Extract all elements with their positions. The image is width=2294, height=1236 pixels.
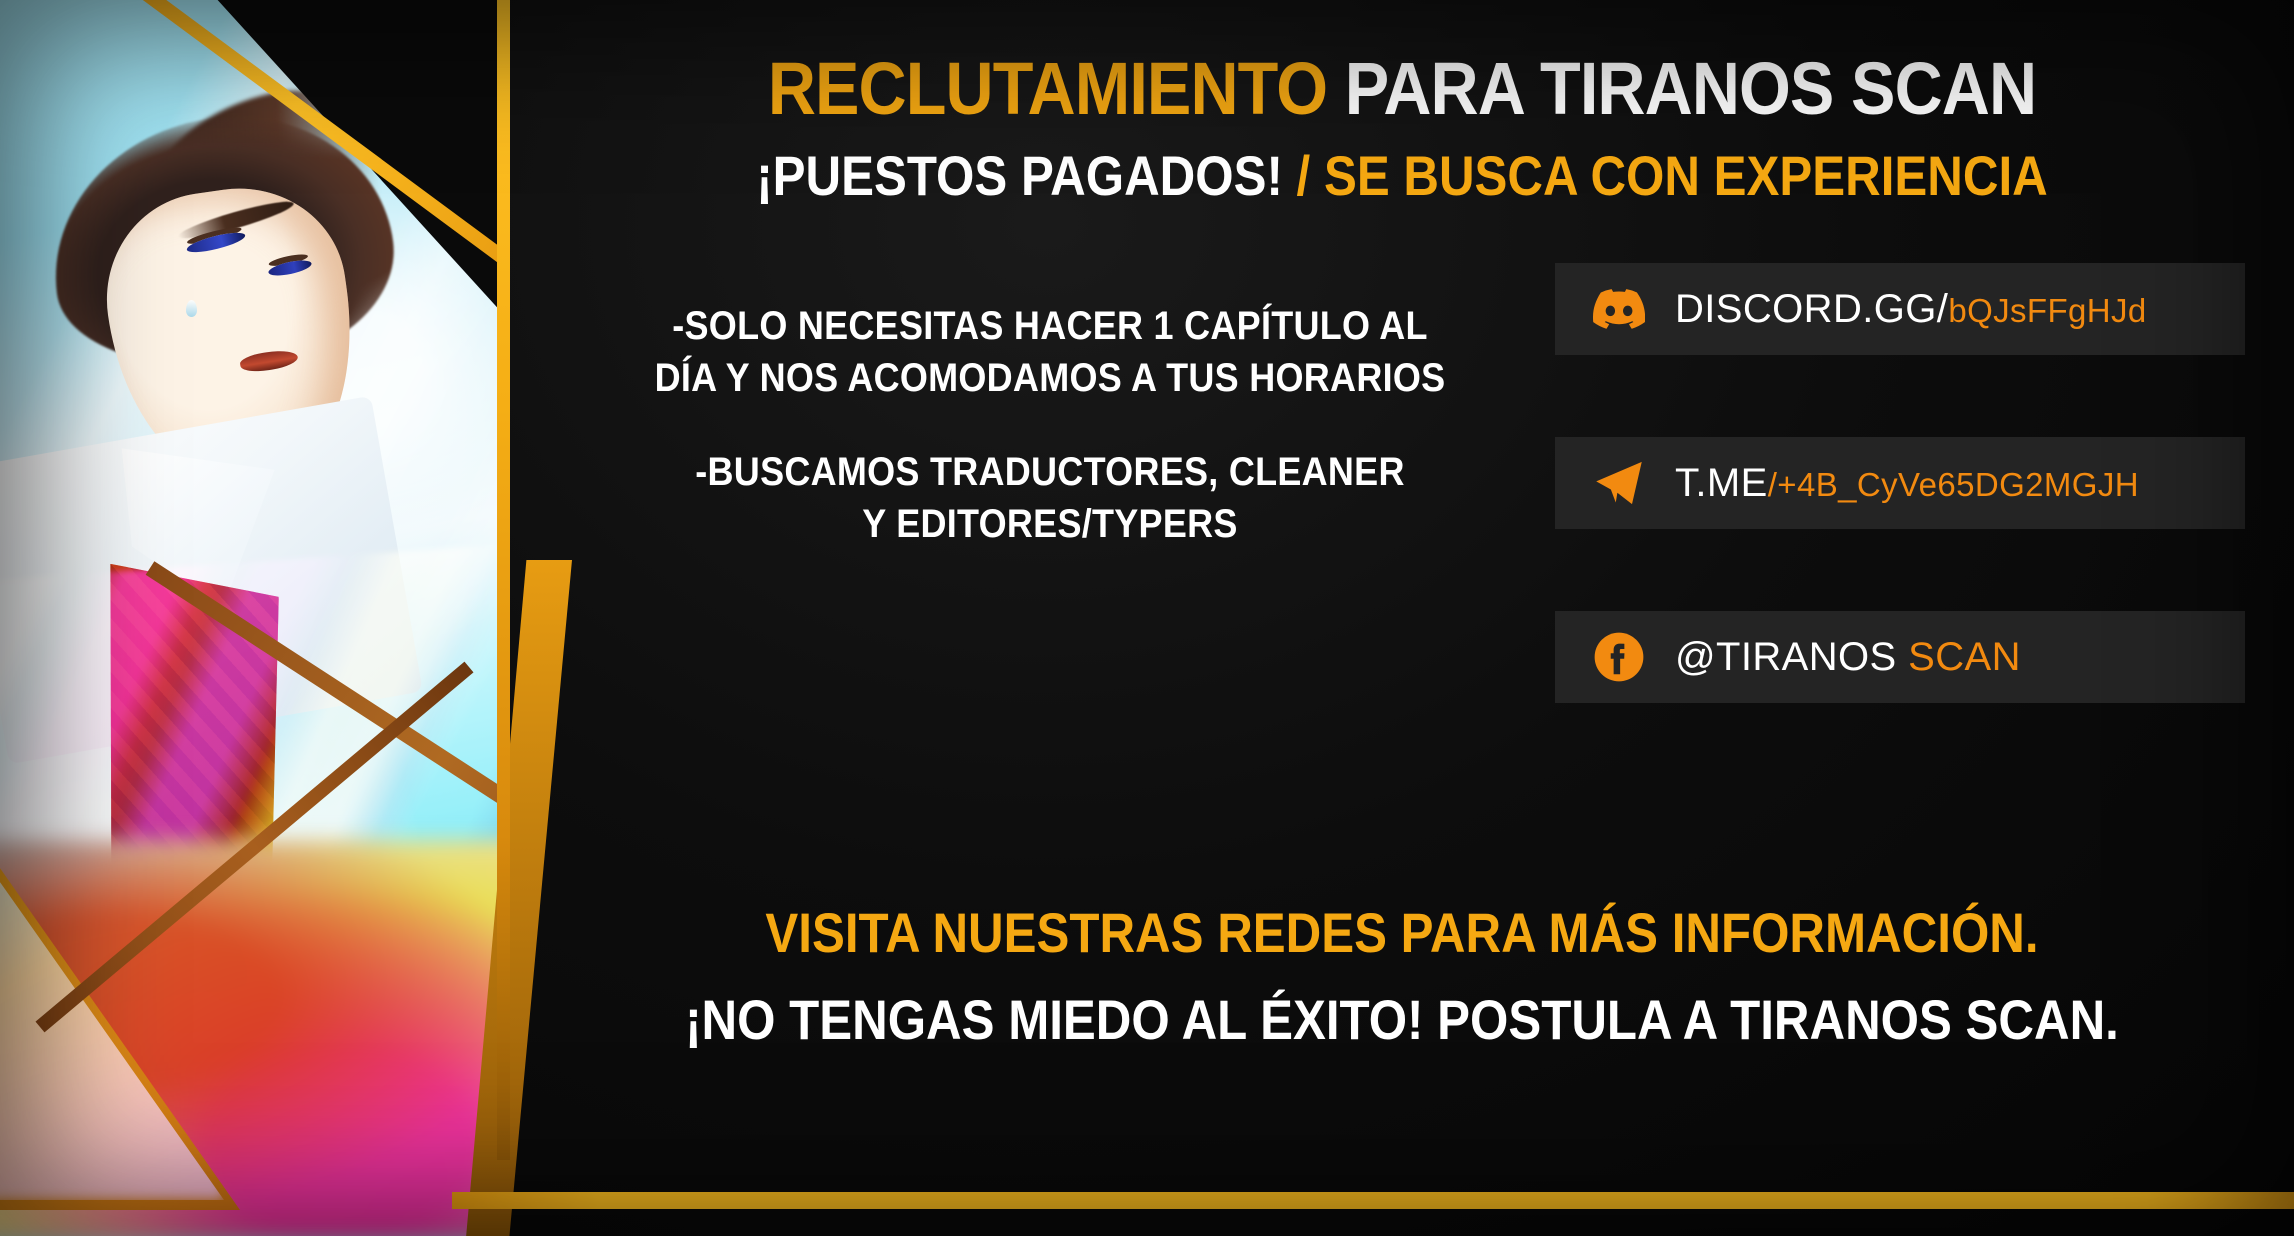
facebook-handle: @TIRANOS: [1675, 635, 1908, 679]
body-line: -SOLO NECESITAS HACER 1 CAPÍTULO AL: [573, 300, 1527, 352]
facebook-icon: [1593, 631, 1645, 683]
discord-icon: [1593, 283, 1645, 335]
contact-text-telegram: T.ME/+4B_CyVe65DG2MGJH: [1675, 461, 2139, 506]
cta-line-1: VISITA NUESTRAS REDES PARA MÁS INFORMACI…: [617, 890, 2187, 977]
body-line: DÍA Y NOS ACOMODAMOS A TUS HORARIOS: [573, 352, 1527, 404]
artwork-character-sweat-drop: [186, 300, 197, 317]
subheadline-paid: ¡PUESTOS PAGADOS!: [756, 144, 1283, 207]
headline: RECLUTAMIENTO PARA TIRANOS SCAN: [510, 52, 2294, 126]
headline-rest: PARA TIRANOS SCAN: [1327, 47, 2036, 130]
bottom-gold-rule: [452, 1192, 2294, 1209]
body-line: -BUSCAMOS TRADUCTORES, CLEANER: [573, 446, 1527, 498]
contact-text-discord: DISCORD.GG/bQJsFFgHJd: [1675, 287, 2147, 332]
subheadline-separator: /: [1283, 144, 1324, 207]
body-paragraph-2: -BUSCAMOS TRADUCTORES, CLEANER Y EDITORE…: [520, 446, 1580, 550]
recruitment-banner: RECLUTAMIENTO PARA TIRANOS SCAN ¡PUESTOS…: [0, 0, 2294, 1236]
body-paragraph-1: -SOLO NECESITAS HACER 1 CAPÍTULO AL DÍA …: [520, 300, 1580, 404]
call-to-action: VISITA NUESTRAS REDES PARA MÁS INFORMACI…: [510, 890, 2294, 1064]
discord-domain: DISCORD.GG/: [1675, 287, 1948, 331]
telegram-icon: [1593, 457, 1645, 509]
telegram-invite-code: /+4B_CyVe65DG2MGJH: [1768, 466, 2139, 503]
contact-text-facebook: @TIRANOS SCAN: [1675, 635, 2021, 680]
discord-invite-code: bQJsFFgHJd: [1948, 292, 2146, 329]
body-line: Y EDITORES/TYPERS: [573, 498, 1527, 550]
telegram-domain: T.ME: [1675, 461, 1768, 505]
facebook-handle-suffix: SCAN: [1908, 635, 2021, 679]
body-text: -SOLO NECESITAS HACER 1 CAPÍTULO AL DÍA …: [520, 300, 1580, 592]
contact-card-telegram[interactable]: T.ME/+4B_CyVe65DG2MGJH: [1555, 437, 2245, 529]
headline-highlight: RECLUTAMIENTO: [768, 47, 1327, 130]
subheadline-experience: SE BUSCA CON EXPERIENCIA: [1324, 144, 2048, 207]
cta-line-2: ¡NO TENGAS MIEDO AL ÉXITO! POSTULA A TIR…: [617, 977, 2187, 1064]
contact-card-discord[interactable]: DISCORD.GG/bQJsFFgHJd: [1555, 263, 2245, 355]
contact-card-facebook[interactable]: @TIRANOS SCAN: [1555, 611, 2245, 703]
contact-cards: DISCORD.GG/bQJsFFgHJd T.ME/+4B_CyVe65DG2…: [1555, 263, 2245, 703]
gold-divider: [497, 0, 510, 1160]
subheadline: ¡PUESTOS PAGADOS! / SE BUSCA CON EXPERIE…: [510, 148, 2294, 204]
content-area: RECLUTAMIENTO PARA TIRANOS SCAN ¡PUESTOS…: [510, 0, 2294, 1236]
artwork-panel: [0, 0, 508, 1236]
